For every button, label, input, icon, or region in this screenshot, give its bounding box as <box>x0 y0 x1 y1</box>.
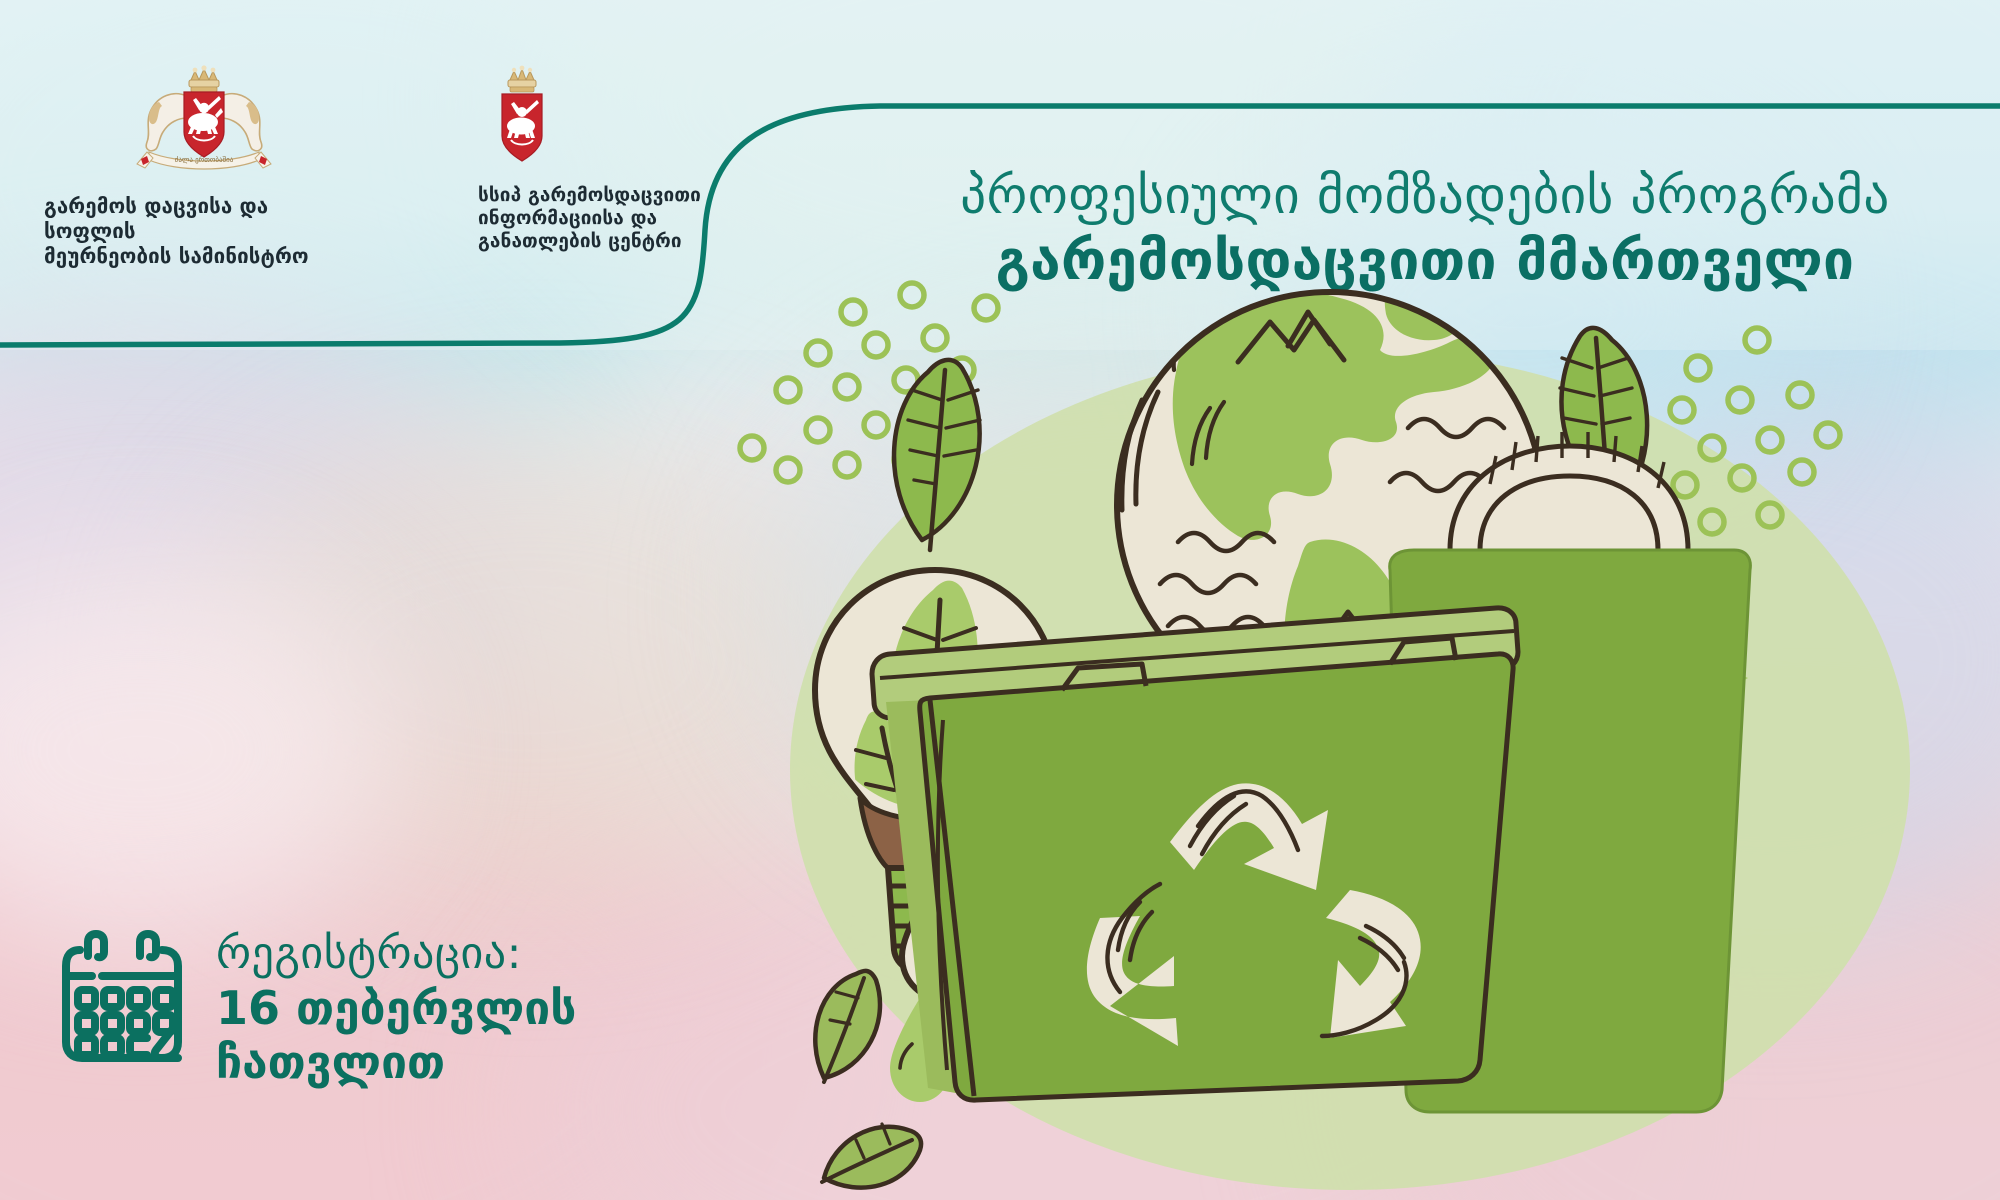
registration-deadline-line2: ჩათვლით <box>216 1036 576 1089</box>
coat-of-arms-icon: ძალა ერთობაშია <box>44 60 364 180</box>
small-coat-of-arms-icon <box>478 60 818 170</box>
logo-center-line2: ინფორმაციისა და <box>478 207 818 230</box>
poster-root: ძალა ერთობაშია გარემოს დაცვისა და სოფლის… <box>0 0 2000 1200</box>
recycling-bin-icon <box>872 608 1518 1100</box>
coat-of-arms-motto: ძალა ერთობაშია <box>175 155 234 164</box>
eco-illustration <box>690 250 2000 1200</box>
leaf-icon <box>815 971 880 1082</box>
registration-text: რეგისტრაცია: 16 თებერვლის ჩათვლით <box>216 930 576 1089</box>
logo-center-text: სსიპ გარემოსდაცვითი ინფორმაციისა და განა… <box>478 184 818 254</box>
program-subtitle: პროფესიული მომზადების პროგრამა <box>880 170 1970 224</box>
logo-ministry-line1: გარემოს დაცვისა და სოფლის <box>44 194 364 244</box>
logo-center-line1: სსიპ გარემოსდაცვითი <box>478 184 818 207</box>
leaf-icon <box>822 1124 921 1188</box>
registration-label: რეგისტრაცია: <box>216 930 576 978</box>
logo-center: სსიპ გარემოსდაცვითი ინფორმაციისა და განა… <box>478 60 818 254</box>
logo-ministry-line2: მეურნეობის სამინისტრო <box>44 244 364 269</box>
registration-deadline-line1: 16 თებერვლის <box>216 982 576 1035</box>
logo-ministry-text: გარემოს დაცვისა და სოფლის მეურნეობის სამ… <box>44 194 364 269</box>
logo-ministry: ძალა ერთობაშია გარემოს დაცვისა და სოფლის… <box>44 60 364 269</box>
calendar-icon <box>58 930 186 1065</box>
registration-block: რეგისტრაცია: 16 თებერვლის ჩათვლით <box>58 930 576 1089</box>
